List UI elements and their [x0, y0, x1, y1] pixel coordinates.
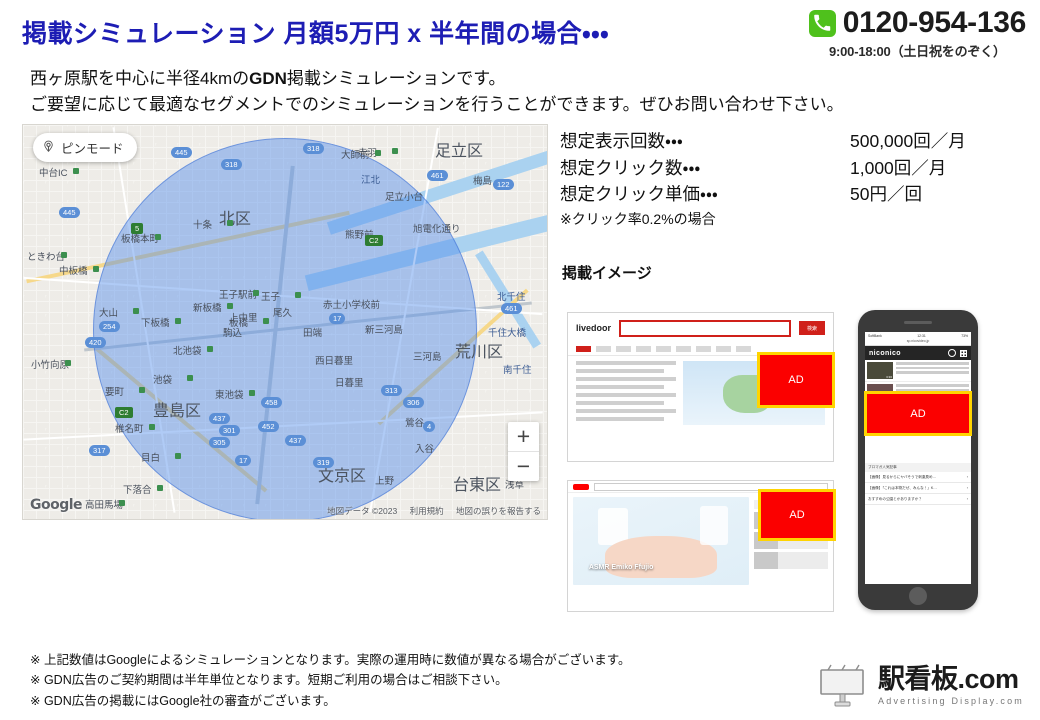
map-station-marker [227, 303, 233, 309]
youtube-logo-icon [573, 484, 589, 490]
map-station-label: 下落合 [123, 482, 152, 496]
lead-line1-a: 西ヶ原駅を中心に半径4kmの [30, 69, 249, 88]
livedoor-nav-item[interactable] [576, 346, 591, 352]
map-report-link[interactable]: 地図の誤りを報告する [456, 506, 541, 516]
simulation-stats: 想定表示回数・・・500,000回／月想定クリック数・・・1,000回／月想定ク… [560, 128, 966, 229]
map-route-shield: C2 [365, 235, 383, 246]
livedoor-nav-item[interactable] [696, 346, 711, 352]
map-route-shield: 319 [313, 457, 334, 468]
ad-placeholder-youtube: AD [758, 489, 836, 541]
phone-carrier: SoftBank [868, 334, 882, 338]
map-station-marker [133, 308, 139, 314]
livedoor-logo: livedoor [576, 323, 611, 333]
phone-url-bar[interactable]: sp.nicovideo.jp [865, 339, 971, 346]
phone-home-button[interactable] [909, 587, 927, 605]
livedoor-search-input[interactable] [619, 320, 791, 337]
brand-name: 駅看板.com [878, 666, 1024, 693]
map-zoom-controls[interactable]: + − [508, 422, 539, 481]
phone-speaker [904, 321, 932, 324]
map-station-label: 入谷 [415, 441, 434, 455]
stat-row: 想定クリック単価・・・50円／回 [560, 181, 966, 208]
niconico-article-row[interactable]: 【画像】「これは本物だぜ、みんな！」K…› [865, 483, 971, 494]
livedoor-headline [576, 361, 676, 365]
map-station-label: 上中里 [229, 310, 258, 324]
map-station-label: 王子 [261, 289, 280, 303]
zoom-out-button[interactable]: − [508, 452, 539, 481]
niconico-section-title: ブロマガ人気記事 [865, 463, 971, 472]
map-ward-label: 台東区 [453, 471, 501, 495]
footer-note: ※ GDN広告の掲載にはGoogle社の審査がございます。 [30, 691, 631, 711]
article-title: 【画像】「これは本物だぜ、みんな！」K… [868, 486, 937, 491]
map-ward-label: 豊島区 [153, 397, 201, 421]
lead-line-2: ご要望に応じて最適なセグメントでのシミュレーションを行うことができます。ぜひお問… [30, 92, 844, 118]
map-route-shield: 461 [501, 303, 522, 314]
livedoor-headline [576, 417, 664, 421]
map-station-label: 梅島 [473, 173, 492, 187]
livedoor-nav-item[interactable] [736, 346, 751, 352]
google-logo: Google [30, 497, 82, 513]
map-station-marker [253, 290, 259, 296]
article-title: おすすめの公園とかありますか？ [868, 497, 922, 502]
map-route-shield: 437 [285, 435, 306, 446]
map-station-marker [119, 500, 125, 506]
map-station-label: 日暮里 [335, 375, 364, 389]
map-station-marker [73, 168, 79, 174]
map-route-shield: 420 [85, 337, 106, 348]
map-station-label: 王子駅前 [219, 287, 257, 301]
niconico-logo: niconico [869, 350, 901, 357]
stat-row: 想定表示回数・・・500,000回／月 [560, 128, 966, 155]
map-route-shield: 122 [493, 179, 514, 190]
map-station-label: 西日暮里 [315, 353, 353, 367]
livedoor-header: livedoor 検索 [568, 313, 833, 343]
pin-mode-label: ピンモード [61, 138, 124, 157]
map-station-label: 下板橋 [141, 315, 170, 329]
map-route-shield: 301 [219, 425, 240, 436]
map-station-label: 要町 [105, 384, 124, 398]
map-station-label: 十条 [193, 217, 212, 231]
niconico-bar-icons[interactable] [948, 349, 967, 357]
map-station-label: 三河島 [413, 349, 442, 363]
footer-note: ※ GDN広告のご契約期間は半年単位となります。短期ご利用の場合はご相談下さい。 [30, 670, 631, 690]
map-station-label: 新板橋 [193, 300, 222, 314]
phone-screen: SoftBank 12:31 73% sp.nicovideo.jp nicon… [865, 332, 971, 584]
map-station-label: 大山 [99, 305, 118, 319]
grid-icon[interactable] [960, 350, 967, 357]
livedoor-headline [576, 369, 664, 373]
map-route-shield: 306 [403, 397, 424, 408]
video-meta-line [896, 371, 969, 374]
map-ward-label: 足立区 [435, 137, 483, 161]
livedoor-search-button[interactable]: 検索 [799, 321, 825, 335]
video-meta [896, 362, 969, 379]
map-route-shield: 17 [329, 313, 345, 324]
map-station-label: 鶯谷 [405, 415, 424, 429]
stats-note: ※クリック率0.2%の場合 [560, 209, 966, 229]
map-station-marker [175, 318, 181, 324]
map-station-marker [155, 234, 161, 240]
lead-paragraph: 西ヶ原駅を中心に半径4kmのGDN掲載シミュレーションです。 ご要望に応じて最適… [30, 66, 844, 117]
map-route-shield: 318 [303, 143, 324, 154]
niconico-article-row[interactable]: おすすめの公園とかありますか？› [865, 494, 971, 505]
map-route-shield: 4 [423, 421, 435, 432]
stat-row: 想定クリック数・・・1,000回／月 [560, 155, 966, 182]
chevron-right-icon: › [967, 486, 968, 491]
search-icon[interactable] [948, 349, 956, 357]
chevron-right-icon: › [967, 475, 968, 480]
map-station-marker [207, 346, 213, 352]
map-station-label: 上野 [375, 473, 394, 487]
map-station-label: 東池袋 [215, 387, 244, 401]
map-station-label: 高田馬場 [85, 497, 123, 511]
map-route-shield: 5 [131, 223, 143, 234]
map-route-shield: 17 [235, 455, 251, 466]
zoom-in-button[interactable]: + [508, 422, 539, 452]
niconico-video-item[interactable]: 3:36 [865, 360, 971, 382]
map-station-label: 北池袋 [173, 343, 202, 357]
map-station-label: 旭電化通り [413, 221, 461, 235]
video-meta-line [896, 362, 969, 365]
map-ward-label: 南千住 [503, 362, 532, 376]
ad-placeholder-phone: AD [864, 391, 972, 436]
niconico-article-row[interactable]: 【画像】見るからにヤバそうで刺激臭め…› [865, 472, 971, 483]
livedoor-headline [576, 401, 664, 405]
lead-line1-c: 掲載シミュレーションです。 [287, 69, 506, 88]
phone-number: 0120-954-136 [843, 8, 1026, 38]
pin-mode-button[interactable]: ピンモード [33, 133, 137, 162]
map-station-marker [93, 266, 99, 272]
map-station-label: 小竹向原 [31, 357, 69, 371]
livedoor-headline [576, 377, 676, 381]
map-route-shield: 313 [381, 385, 402, 396]
stat-label: 想定表示回数・・・ [560, 128, 850, 155]
livedoor-nav-item[interactable] [616, 346, 631, 352]
video-meta-line [896, 367, 969, 370]
stat-value: 500,000回／月 [850, 128, 966, 155]
brand-tagline: Advertising Display.com [878, 696, 1024, 706]
map-route-shield: 254 [99, 321, 120, 332]
phone-icon [809, 10, 836, 37]
map-station-marker [139, 387, 145, 393]
stat-label: 想定クリック単価・・・ [560, 181, 850, 208]
map-station-marker [295, 292, 301, 298]
chevron-right-icon: › [967, 497, 968, 502]
map-ward-label: 江北 [361, 172, 380, 186]
map-station-label: 尾久 [273, 305, 292, 319]
map-station-marker [375, 150, 381, 156]
map-route-shield: 317 [89, 445, 110, 456]
map-station-label: 大師前 [341, 147, 370, 161]
phone-time: 12:31 [917, 334, 926, 338]
map-route-shield: 461 [427, 170, 448, 181]
niconico-article-rows: 【画像】見るからにヤバそうで刺激臭め…›【画像】「これは本物だぜ、みんな！」K…… [865, 472, 971, 505]
map-station-marker [227, 220, 233, 226]
footer-notes: ※ 上記数値はGoogleによるシミュレーションとなります。実際の運用時に数値が… [30, 650, 631, 711]
livedoor-nav-item[interactable] [656, 346, 671, 352]
lead-line1-b: GDN [249, 69, 287, 88]
map-station-label: 池袋 [153, 372, 172, 386]
map-station-marker [249, 390, 255, 396]
map-station-label: 目白 [141, 450, 160, 464]
stat-label: 想定クリック数・・・ [560, 155, 850, 182]
map-ward-label: 千住大橋 [488, 325, 526, 339]
livedoor-nav-item[interactable] [676, 346, 691, 352]
livedoor-headline [576, 393, 676, 397]
map-station-label: 椎名町 [115, 421, 144, 435]
map-data-credit: 地図データ ©2023 [327, 506, 397, 516]
map-station-marker [65, 360, 71, 366]
map-station-label: 新三河島 [365, 322, 403, 336]
map-ward-label: 北千住 [497, 289, 526, 303]
slide-root: 掲載シミュレーション 月額5万円 x 半年間の場合・・・ 0120-954-13… [0, 0, 1040, 720]
map-station-label: 足立小台 [385, 189, 423, 203]
map-terms-link[interactable]: 利用規約 [410, 506, 444, 516]
phone-mockup: SoftBank 12:31 73% sp.nicovideo.jp nicon… [858, 310, 978, 610]
map-ward-label: 北区 [219, 205, 251, 229]
brand-logo: 駅看板.com Advertising Display.com [818, 664, 1024, 708]
phone-status-bar: SoftBank 12:31 73% [865, 332, 971, 339]
page-title: 掲載シミュレーション 月額5万円 x 半年間の場合・・・ [22, 14, 609, 50]
map-station-marker [175, 453, 181, 459]
video-meta-line [896, 384, 969, 387]
map-route-shield: 437 [209, 413, 230, 424]
brand-logo-text: 駅看板.com Advertising Display.com [878, 666, 1024, 706]
video-thumbnail: 3:36 [867, 362, 893, 379]
youtube-related-card[interactable] [754, 552, 828, 569]
map-station-marker [149, 424, 155, 430]
map-route-shield: C2 [115, 407, 133, 418]
map-ward-label: 荒川区 [455, 338, 503, 362]
youtube-related-thumb [754, 552, 778, 569]
map-route-shield: 318 [221, 159, 242, 170]
phone-battery: 73% [961, 334, 968, 338]
map-station-label: 中板橋 [59, 263, 88, 277]
stat-value: 1,000回／月 [850, 155, 946, 182]
youtube-video-caption: ASMR Emiko Ffujio [589, 564, 654, 571]
map-route-shield: 445 [171, 147, 192, 158]
livedoor-nav-item[interactable] [716, 346, 731, 352]
map-station-label: 田端 [303, 325, 322, 339]
phone-hours: 9:00-18:00（土日祝をのぞく） [829, 41, 1006, 60]
niconico-app-bar: niconico [865, 346, 971, 360]
livedoor-nav-item[interactable] [596, 346, 611, 352]
showcase-heading: 掲載イメージ [562, 262, 652, 283]
map-station-label: 赤土小学校前 [323, 297, 380, 311]
map-route-shield: 445 [59, 207, 80, 218]
video-duration: 3:36 [886, 375, 892, 379]
map-route-shield: 305 [209, 437, 230, 448]
youtube-video-content [605, 536, 718, 578]
map-station-marker [263, 318, 269, 324]
stat-value: 50円／回 [850, 181, 922, 208]
footer-note: ※ 上記数値はGoogleによるシミュレーションとなります。実際の運用時に数値が… [30, 650, 631, 670]
map-pin-icon [42, 140, 55, 156]
map-station-marker [187, 375, 193, 381]
livedoor-nav-item[interactable] [636, 346, 651, 352]
article-title: 【画像】見るからにヤバそうで刺激臭め… [868, 475, 936, 480]
map-station-marker [157, 485, 163, 491]
livedoor-headline [576, 385, 664, 389]
map-attribution: 地図データ ©2023 利用規約 地図の誤りを報告する [317, 505, 541, 517]
map-station-marker [392, 148, 398, 154]
livedoor-headline [576, 409, 676, 413]
youtube-video-player[interactable]: ASMR Emiko Ffujio [573, 497, 749, 585]
map-station-label: ときわ台 [27, 249, 65, 263]
map-station-label: 中台IC [39, 165, 68, 179]
contact-phone-block: 0120-954-136 9:00-18:00（土日祝をのぞく） [809, 8, 1026, 60]
map-route-shield: 452 [258, 421, 279, 432]
map-station-marker [61, 252, 67, 258]
billboard-icon [818, 664, 870, 708]
coverage-map[interactable]: 足立区北区荒川区豊島区文京区台東区江北北千住千住大橋南千住 赤羽中台IC十条王子… [22, 124, 548, 520]
livedoor-headline-list [576, 361, 676, 425]
map-route-shield: 458 [261, 397, 282, 408]
map-station-label: 駒込 [223, 325, 242, 339]
ad-placeholder-livedoor: AD [757, 352, 835, 408]
lead-line-1: 西ヶ原駅を中心に半径4kmのGDN掲載シミュレーションです。 [30, 66, 844, 92]
